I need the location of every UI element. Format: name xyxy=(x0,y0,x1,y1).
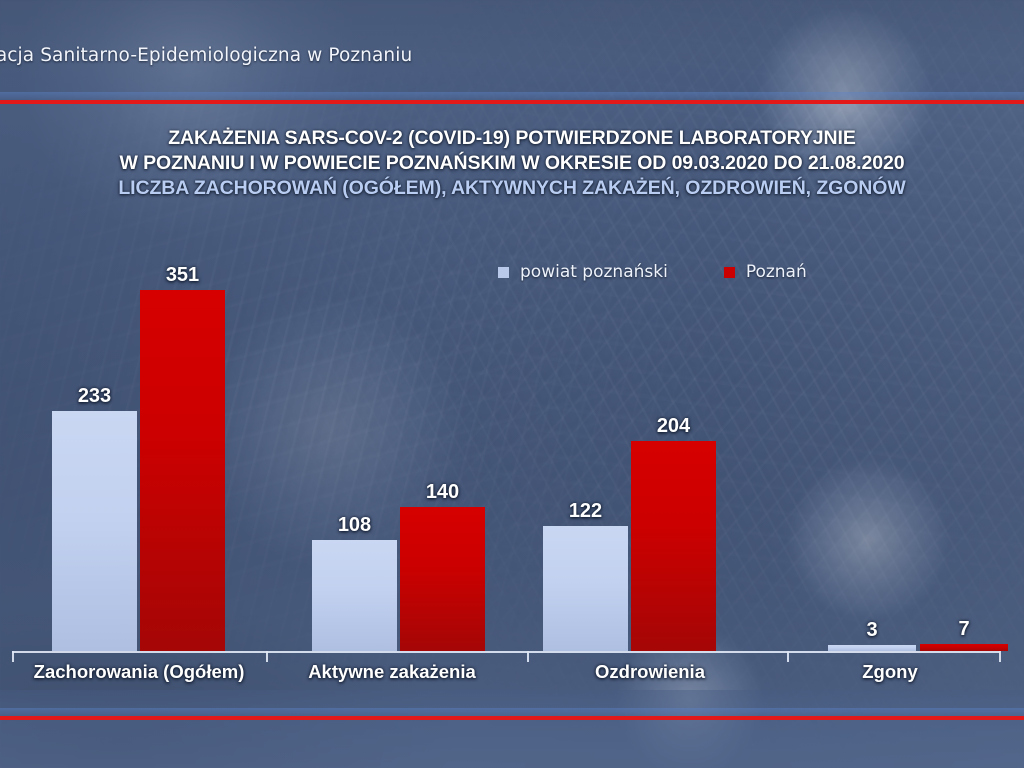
legend-item-powiat-poznanski[interactable]: powiat poznański xyxy=(498,262,668,282)
bottom-red-rule xyxy=(0,716,1024,720)
background-tint-overlay xyxy=(0,0,1024,768)
legend-swatch-icon xyxy=(498,267,509,278)
footer-band xyxy=(0,690,1024,768)
title-line-3: LICZBA ZACHOROWAŃ (OGÓŁEM), AKTYWNYCH ZA… xyxy=(0,176,1024,201)
page-title: ZAKAŻENIA SARS-COV-2 (COVID-19) POTWIERD… xyxy=(0,126,1024,201)
legend-label: Poznań xyxy=(746,262,807,282)
top-red-rule xyxy=(0,100,1024,104)
chart-legend: powiat poznański Poznań xyxy=(498,262,807,282)
legend-item-poznan[interactable]: Poznań xyxy=(724,262,807,282)
title-line-2: W POZNANIU I W POWIECIE POZNAŃSKIM W OKR… xyxy=(0,151,1024,176)
legend-label: powiat poznański xyxy=(520,262,668,282)
organization-name: wa Stacja Sanitarno-Epidemiologiczna w P… xyxy=(0,45,564,66)
title-line-1: ZAKAŻENIA SARS-COV-2 (COVID-19) POTWIERD… xyxy=(0,126,1024,151)
chart-slide: wa Stacja Sanitarno-Epidemiologiczna w P… xyxy=(0,0,1024,768)
legend-swatch-icon xyxy=(724,267,735,278)
